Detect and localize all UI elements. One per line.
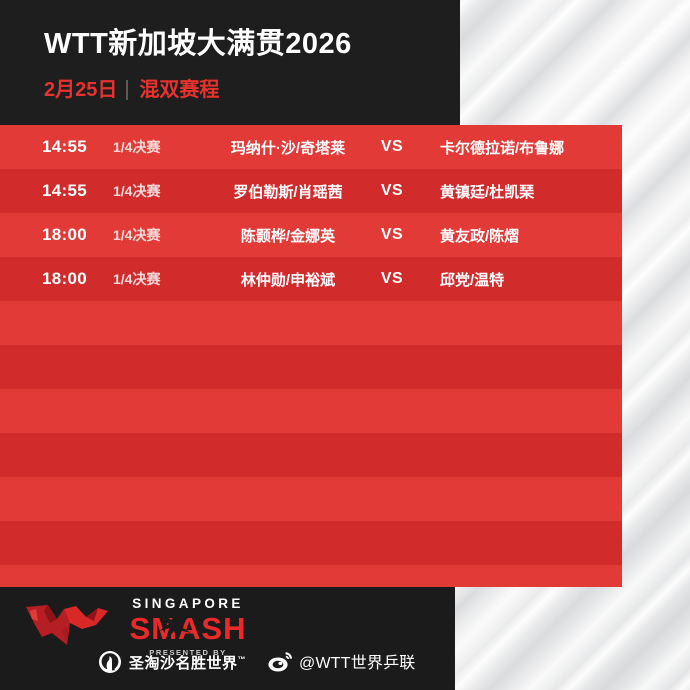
player-left: 陈颢桦/金娜英 bbox=[208, 225, 368, 246]
logo-city: SINGAPORE bbox=[112, 597, 264, 611]
sponsor-lockup: 圣淘沙名胜世界™ bbox=[98, 650, 246, 674]
player-left: 罗伯勒斯/肖瑶茜 bbox=[208, 181, 368, 202]
table-row[interactable]: 14:551/4决赛罗伯勒斯/肖瑶茜VS黄镇廷/杜凯琹 bbox=[0, 169, 622, 213]
header-panel: WTT新加坡大满贯2026 2月25日 混双赛程 bbox=[0, 0, 460, 125]
vs-label: VS bbox=[372, 270, 412, 288]
vs-label: VS bbox=[372, 138, 412, 156]
table-row[interactable]: 18:001/4决赛林仲勋/申裕斌VS邱党/温特 bbox=[0, 257, 622, 301]
resorts-world-sentosa-icon bbox=[98, 650, 122, 674]
footer-red-bar bbox=[0, 578, 622, 587]
table-row-empty bbox=[0, 477, 622, 521]
match-time: 14:55 bbox=[42, 181, 87, 201]
singapore-smash-logo: SINGAPORE SMASH PRESENTED BY bbox=[24, 595, 264, 657]
match-stage: 1/4决赛 bbox=[113, 269, 160, 289]
subtitle-divider bbox=[126, 80, 128, 100]
table-row-empty bbox=[0, 433, 622, 477]
weibo-handle[interactable]: @WTT世界乒联 bbox=[299, 649, 416, 673]
weibo-lockup[interactable]: @WTT世界乒联 bbox=[268, 649, 416, 673]
smash-wordmark: SINGAPORE SMASH PRESENTED BY bbox=[112, 595, 264, 657]
player-right: 黄友政/陈熠 bbox=[440, 225, 519, 246]
logo-event-wrap: SMASH bbox=[112, 613, 264, 644]
event-date: 2月25日 bbox=[44, 80, 117, 100]
player-right: 卡尔德拉诺/布鲁娜 bbox=[440, 137, 564, 158]
player-left: 玛纳什·沙/奇塔莱 bbox=[208, 137, 368, 158]
weibo-icon[interactable] bbox=[268, 650, 293, 672]
match-stage: 1/4决赛 bbox=[113, 225, 160, 245]
table-row[interactable]: 18:001/4决赛陈颢桦/金娜英VS黄友政/陈熠 bbox=[0, 213, 622, 257]
page-title: WTT新加坡大满贯2026 bbox=[44, 30, 352, 59]
footer-panel: SINGAPORE SMASH PRESENTED BY 圣淘沙名胜世界™ bbox=[0, 587, 455, 690]
table-row-empty bbox=[0, 389, 622, 433]
table-row[interactable]: 14:551/4决赛玛纳什·沙/奇塔莱VS卡尔德拉诺/布鲁娜 bbox=[0, 125, 622, 169]
logo-event: SMASH bbox=[130, 611, 247, 646]
player-left: 林仲勋/申裕斌 bbox=[208, 269, 368, 290]
wtt-schedule-poster: WTT新加坡大满贯2026 2月25日 混双赛程 14:551/4决赛玛纳什·沙… bbox=[0, 0, 690, 690]
match-stage: 1/4决赛 bbox=[113, 137, 160, 157]
event-category: 混双赛程 bbox=[139, 80, 219, 100]
match-time: 18:00 bbox=[42, 225, 87, 245]
sponsor-trademark: ™ bbox=[238, 655, 247, 664]
vs-label: VS bbox=[372, 226, 412, 244]
header-subtitle: 2月25日 混双赛程 bbox=[44, 80, 219, 100]
match-time: 18:00 bbox=[42, 269, 87, 289]
match-stage: 1/4决赛 bbox=[113, 181, 160, 201]
merlion-wing-icon bbox=[24, 603, 110, 649]
schedule-table: 14:551/4决赛玛纳什·沙/奇塔莱VS卡尔德拉诺/布鲁娜14:551/4决赛… bbox=[0, 125, 622, 580]
player-right: 邱党/温特 bbox=[440, 269, 504, 290]
sponsor-name: 圣淘沙名胜世界™ bbox=[129, 652, 246, 673]
table-row-empty bbox=[0, 301, 622, 345]
table-row-empty bbox=[0, 521, 622, 565]
sponsor-name-text: 圣淘沙名胜世界 bbox=[129, 655, 238, 672]
match-time: 14:55 bbox=[42, 137, 87, 157]
vs-label: VS bbox=[372, 182, 412, 200]
table-row-empty bbox=[0, 345, 622, 389]
player-right: 黄镇廷/杜凯琹 bbox=[440, 181, 534, 202]
